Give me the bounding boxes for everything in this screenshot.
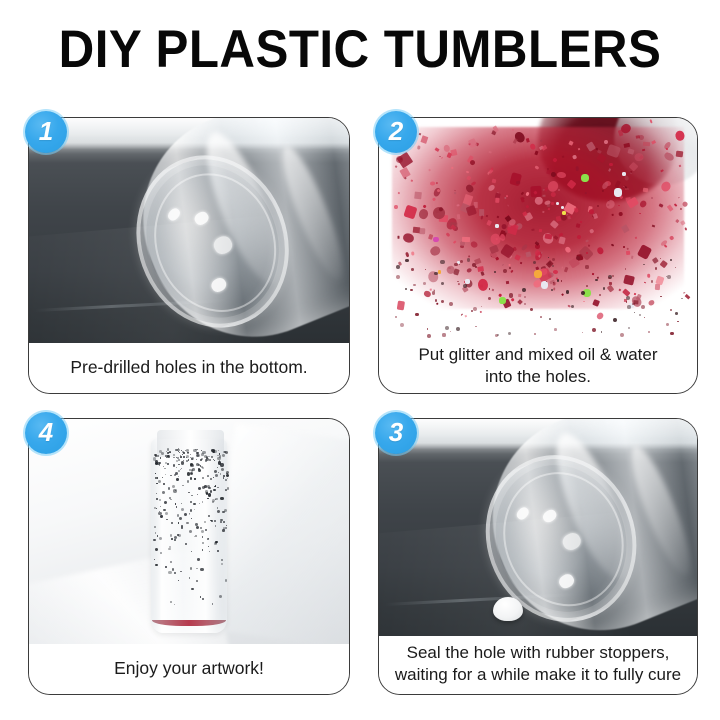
suspended-glitter-speck [155, 462, 158, 465]
glitter-flake [603, 140, 608, 145]
step-badge-4: 4 [25, 412, 67, 454]
suspended-glitter-speck [167, 455, 169, 457]
glitter-speck [489, 288, 490, 289]
suspended-glitter-speck [187, 452, 189, 454]
glitter-flake [553, 269, 558, 273]
glitter-speck [592, 328, 596, 332]
glitter-speck [557, 279, 560, 282]
step-badge-3: 3 [375, 412, 417, 454]
step-badge-1-number: 1 [39, 118, 53, 144]
glitter-speck [494, 271, 496, 273]
suspended-glitter-speck [175, 472, 178, 475]
glitter-speck [472, 263, 476, 267]
drill-hole [165, 207, 181, 223]
suspended-glitter-speck [213, 459, 215, 461]
glitter-flake [419, 132, 422, 135]
suspended-glitter-speck [166, 519, 168, 521]
glitter-flake [626, 251, 631, 255]
suspended-glitter-speck [198, 487, 201, 490]
glitter-speck [454, 263, 458, 267]
suspended-glitter-speck [176, 478, 179, 481]
suspended-glitter-speck [194, 478, 195, 479]
drill-hole [192, 209, 210, 227]
glitter-flake [429, 288, 431, 290]
glitter-flake [583, 301, 585, 302]
glitter-speck [411, 268, 414, 271]
step-badge-1: 1 [25, 111, 67, 153]
drill-hole [557, 571, 577, 590]
drill-hole [560, 530, 584, 553]
glitter-flake [526, 137, 530, 142]
step-panel-3[interactable]: Seal the hole with rubber stoppers, wait… [378, 418, 698, 695]
glitter-speck [475, 326, 477, 328]
suspended-glitter-speck [217, 507, 219, 509]
glitter-speck [427, 328, 429, 330]
suspended-glitter-speck [211, 449, 214, 452]
suspended-glitter-speck [202, 467, 204, 469]
glitter-speck [651, 280, 654, 283]
dark-surface-scene [29, 118, 349, 343]
glitter-flake [456, 214, 460, 219]
glitter-flake-iridescent [433, 237, 439, 243]
glitter-speck [395, 316, 396, 317]
glitter-flake [596, 311, 605, 320]
step-badge-2-number: 2 [389, 118, 403, 144]
glitter-flake [539, 228, 542, 231]
glitter-flake [597, 205, 599, 207]
suspended-glitter-speck [223, 521, 225, 523]
suspended-glitter-speck [159, 537, 162, 540]
suspended-glitter-speck [181, 461, 184, 464]
glitter-speck [459, 264, 460, 265]
glitter-speck [681, 298, 682, 299]
suspended-glitter-speck [173, 489, 176, 492]
suspended-glitter-speck [227, 487, 230, 490]
suspended-glitter-speck [165, 512, 168, 515]
suspended-glitter-speck [213, 489, 215, 491]
glitter-speck [586, 285, 588, 287]
glitter-speck [552, 258, 555, 261]
glitter-flake [457, 203, 460, 206]
glitter-flake [532, 229, 535, 231]
suspended-glitter-speck [183, 456, 185, 458]
suspended-glitter-speck [196, 454, 199, 457]
suspended-glitter-speck [208, 493, 211, 496]
glitter-flake [647, 273, 650, 277]
glitter-speck [546, 281, 547, 282]
suspended-glitter-speck [154, 507, 155, 508]
glitter-flake [683, 291, 685, 293]
suspended-glitter-speck [172, 568, 175, 571]
glitter-flake [454, 192, 456, 194]
suspended-glitter-speck [220, 473, 222, 475]
suspended-glitter-speck [190, 567, 193, 570]
suspended-glitter-speck [218, 461, 222, 465]
glitter-flake-iridescent [622, 172, 626, 176]
suspended-glitter-speck [201, 530, 204, 533]
glitter-speck [427, 334, 431, 338]
glitter-speck [644, 317, 645, 318]
glitter-speck [400, 323, 404, 327]
glitter-flake-iridescent [534, 270, 542, 278]
suspended-glitter-speck [163, 466, 164, 467]
suspended-glitter-speck [220, 497, 223, 500]
glitter-speck [441, 282, 444, 285]
glitter-speck [566, 290, 570, 294]
suspended-glitter-speck [200, 568, 203, 571]
step-badge-4-number: 4 [39, 419, 53, 445]
suspended-glitter-speck [178, 464, 179, 465]
glitter-speck [396, 275, 400, 279]
glitter-speck [599, 294, 600, 295]
suspended-glitter-speck [182, 454, 183, 455]
glitter-flake [666, 148, 668, 150]
glitter-speck [603, 287, 606, 290]
glitter-speck [670, 259, 671, 260]
step-panel-2[interactable]: Put glitter and mixed oil & water into t… [378, 117, 698, 394]
suspended-glitter-speck [196, 452, 199, 455]
suspended-glitter-speck [158, 512, 161, 515]
step-3-photo [379, 419, 697, 636]
glitter-speck [639, 314, 641, 316]
rubber-stopper [493, 597, 523, 621]
glitter-speck [608, 277, 611, 280]
finished-tumbler-scene [29, 419, 349, 644]
glitter-flake [480, 215, 483, 219]
glitter-flake [418, 228, 425, 234]
glitter-scene [379, 118, 697, 340]
glitter-flake [397, 235, 399, 238]
suspended-glitter-speck [214, 520, 216, 522]
glitter-speck [677, 321, 679, 323]
step-3-caption: Seal the hole with rubber stoppers, wait… [379, 636, 697, 694]
glitter-flake [555, 215, 561, 221]
suspended-glitter-speck [218, 472, 219, 473]
glitter-flake [465, 205, 476, 216]
glitter-flake-iridescent [495, 224, 499, 228]
glitter-flake-iridescent [465, 279, 470, 284]
glitter-flake [684, 294, 689, 299]
suspended-glitter-speck [164, 468, 166, 470]
suspended-glitter-speck [185, 543, 187, 545]
glitter-speck [571, 305, 574, 308]
backdrop-fold [207, 423, 349, 644]
suspended-glitter-speck [221, 563, 223, 565]
glitter-flake [465, 315, 467, 317]
suspended-glitter-speck [183, 452, 185, 454]
suspended-glitter-speck [208, 546, 209, 547]
glitter-speck [634, 312, 635, 313]
suspended-glitter-speck [163, 509, 166, 512]
glitter-flake [609, 162, 613, 165]
suspended-glitter-speck [190, 477, 192, 479]
suspended-glitter-speck [212, 501, 214, 503]
glitter-flake-iridescent [556, 202, 560, 206]
suspended-glitter-speck [173, 454, 175, 456]
suspended-glitter-speck [196, 580, 198, 582]
glitter-flake [607, 168, 610, 172]
glitter-flake-iridescent [499, 297, 506, 304]
glitter-speck [549, 318, 551, 320]
glitter-speck [675, 312, 678, 315]
glitter-speck [655, 267, 658, 270]
glitter-speck [582, 332, 583, 333]
glitter-flake [506, 195, 508, 197]
glitter-speck [670, 309, 672, 311]
glitter-flake [635, 236, 637, 238]
suspended-glitter-speck [191, 518, 192, 519]
glitter-flake [480, 310, 482, 312]
suspended-glitter-speck [177, 534, 179, 536]
suspended-glitter-speck [170, 561, 172, 563]
glitter-flake [509, 264, 511, 266]
suspended-glitter-speck [207, 538, 209, 540]
glitter-speck [667, 275, 671, 279]
steps-grid: Pre-drilled holes in the bottom. 1 Put g… [0, 0, 720, 720]
suspended-glitter-speck [160, 515, 162, 517]
suspended-glitter-speck [170, 534, 172, 536]
drill-hole [211, 233, 235, 256]
suspended-glitter-speck [184, 513, 187, 516]
glitter-speck [666, 323, 669, 326]
glitter-flake [678, 164, 681, 167]
dark-surface-scene [379, 419, 697, 636]
glitter-speck [456, 327, 460, 331]
glitter-flake-iridescent [541, 281, 549, 289]
glitter-speck [627, 305, 631, 309]
suspended-glitter-speck [215, 525, 216, 526]
glitter-speck [613, 318, 617, 322]
suspended-glitter-speck [170, 601, 172, 603]
glitter-flake [430, 182, 435, 186]
glitter-flake [676, 151, 684, 157]
glitter-speck [585, 265, 588, 268]
suspended-glitter-speck [189, 577, 190, 578]
suspended-glitter-speck [177, 514, 180, 517]
glitter-flake [619, 288, 621, 290]
suspended-glitter-speck [192, 468, 195, 471]
glitter-speck [530, 308, 533, 311]
step-badge-3-number: 3 [389, 419, 403, 445]
suspended-glitter-speck [168, 452, 170, 454]
suspended-glitter-speck [172, 485, 175, 488]
glitter-speck [423, 282, 426, 285]
glitter-speck [497, 334, 499, 336]
glitter-flake [495, 198, 500, 203]
step-badge-2: 2 [375, 111, 417, 153]
step-1-caption: Pre-drilled holes in the bottom. [29, 343, 349, 393]
glitter-speck [445, 326, 449, 330]
suspended-glitter-speck [182, 485, 183, 486]
glitter-flake-iridescent [581, 174, 589, 182]
step-4-caption: Enjoy your artwork! [29, 644, 349, 694]
suspended-glitter-speck [153, 457, 156, 460]
glitter-speck [554, 328, 557, 331]
glitter-speck [410, 289, 412, 291]
suspended-glitter-speck [200, 596, 201, 597]
suspended-glitter-speck [173, 464, 176, 467]
suspended-glitter-speck [165, 462, 167, 464]
glitter-flake [592, 213, 597, 219]
glitter-flake [543, 189, 545, 191]
glitter-speck [508, 332, 511, 335]
drill-hole [541, 507, 559, 524]
glitter-speck [620, 333, 624, 337]
glitter-flake-iridescent [614, 188, 622, 196]
step-panel-4[interactable]: Enjoy your artwork! [28, 418, 350, 695]
suspended-glitter-speck [160, 552, 162, 554]
step-2-photo [379, 118, 697, 340]
glitter-speck [488, 297, 492, 301]
glitter-speck [601, 331, 603, 333]
suspended-glitter-speck [176, 460, 178, 462]
glitter-flake [618, 211, 622, 216]
suspended-glitter-speck [189, 469, 191, 471]
suspended-glitter-speck [176, 506, 178, 508]
suspended-glitter-speck [217, 457, 221, 461]
glitter-speck [442, 333, 445, 336]
suspended-glitter-speck [202, 486, 205, 489]
glitter-flake [536, 240, 538, 242]
glitter-flake [556, 171, 566, 177]
glitter-speck [425, 269, 426, 270]
glitter-speck [449, 302, 453, 306]
suspended-glitter-speck [161, 452, 164, 455]
glitter-flake [626, 196, 631, 201]
glitter-speck [471, 310, 473, 312]
suspended-glitter-speck [208, 456, 209, 457]
glitter-speck [415, 313, 418, 316]
suspended-glitter-speck [190, 454, 191, 455]
suspended-glitter-speck [178, 451, 179, 452]
suspended-glitter-speck [224, 451, 226, 453]
suspended-glitter-speck [180, 456, 182, 458]
suspended-glitter-speck [195, 523, 198, 526]
glitter-speck [450, 331, 451, 332]
glitter-speck [670, 332, 673, 335]
glitter-flake [414, 192, 421, 199]
suspended-glitter-speck [190, 463, 193, 466]
suspended-glitter-speck [178, 522, 180, 524]
glitter-flake [436, 303, 438, 305]
glitter-flake [512, 128, 514, 130]
suspended-glitter-speck [167, 463, 169, 465]
glitter-flake-iridescent [438, 270, 442, 274]
glitter-speck [440, 260, 444, 264]
glitter-flake [525, 251, 531, 257]
glitter-speck [540, 316, 542, 318]
glitter-speck [524, 303, 525, 304]
suspended-glitter-speck [162, 477, 163, 478]
glitter-flake [397, 191, 399, 193]
glitter-speck [473, 307, 477, 311]
suspended-glitter-speck [207, 498, 209, 500]
step-panel-1[interactable]: Pre-drilled holes in the bottom. [28, 117, 350, 394]
suspended-glitter-speck [186, 457, 187, 458]
glitter-speck [534, 333, 536, 335]
glitter-flake [394, 205, 398, 209]
step-1-photo [29, 118, 349, 343]
drill-hole [208, 275, 228, 294]
glitter-speck [648, 331, 650, 333]
glitter-flake [492, 178, 497, 183]
step-4-photo [29, 419, 349, 644]
glitter-flake-iridescent [562, 211, 566, 215]
glitter-speck [463, 284, 467, 288]
glitter-speck [628, 327, 630, 329]
glitter-speck [405, 259, 409, 263]
glitter-flake [450, 167, 453, 169]
glitter-flake [461, 314, 463, 316]
suspended-glitter-speck [225, 579, 227, 581]
suspended-glitter-speck [155, 473, 156, 474]
suspended-glitter-speck [181, 468, 182, 469]
suspended-glitter-speck [207, 475, 209, 477]
glitter-flake [435, 182, 437, 184]
suspended-glitter-speck [198, 468, 200, 470]
step-2-caption: Put glitter and mixed oil & water into t… [379, 340, 697, 393]
suspended-glitter-speck [169, 497, 171, 499]
suspended-glitter-speck [205, 490, 208, 493]
drill-hole [515, 505, 531, 521]
suspended-glitter-speck [217, 467, 218, 468]
suspended-glitter-speck [202, 549, 203, 550]
suspended-glitter-speck [193, 503, 195, 505]
glitter-speck [434, 272, 437, 275]
glitter-flake [462, 237, 470, 243]
